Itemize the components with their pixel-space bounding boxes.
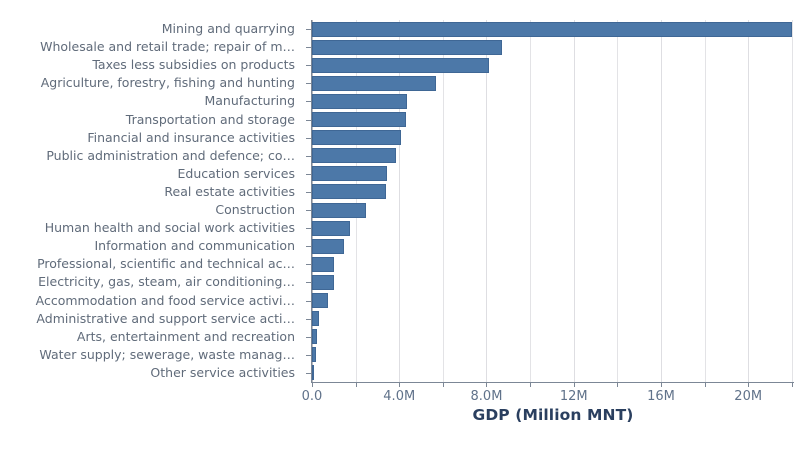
x-axis-tickmark (486, 382, 487, 387)
y-axis-label: Other service activities (150, 366, 295, 380)
bar[interactable] (312, 239, 344, 254)
y-axis-label: Water supply; sewerage, waste manag… (39, 348, 295, 362)
y-axis-tickmark (306, 156, 311, 157)
y-axis-label: Electricity, gas, steam, air conditionin… (38, 275, 295, 289)
bar-row[interactable] (312, 58, 489, 73)
bar[interactable] (312, 329, 317, 344)
x-axis-tickmark (574, 382, 575, 387)
bar[interactable] (312, 166, 387, 181)
y-axis-tickmark (306, 246, 311, 247)
y-axis-line (311, 20, 312, 383)
y-axis-label: Real estate activities (164, 185, 295, 199)
bar[interactable] (312, 94, 407, 109)
y-axis-label: Administrative and support service acti… (36, 312, 295, 326)
y-axis-label: Wholesale and retail trade; repair of m… (40, 40, 295, 54)
bar[interactable] (312, 347, 316, 362)
bar[interactable] (312, 22, 792, 37)
x-axis-tickmark (399, 382, 400, 387)
bars-layer (312, 20, 794, 382)
x-axis-tickmark-minor (617, 382, 618, 387)
y-axis-label: Arts, entertainment and recreation (77, 330, 295, 344)
bar-row[interactable] (312, 148, 396, 163)
y-axis-label: Information and communication (95, 239, 296, 253)
bar-row[interactable] (312, 275, 334, 290)
y-axis-labels: Mining and quarryingWholesale and retail… (0, 20, 305, 382)
y-axis-tickmark (306, 83, 311, 84)
bar[interactable] (312, 221, 350, 236)
x-axis-tickmark-minor (792, 382, 793, 387)
y-axis-tickmark (306, 264, 311, 265)
x-axis-tickmark-minor (530, 382, 531, 387)
bar-row[interactable] (312, 40, 502, 55)
bar-row[interactable] (312, 221, 350, 236)
bar-row[interactable] (312, 239, 344, 254)
bar-row[interactable] (312, 311, 319, 326)
gdp-bar-chart: Mining and quarryingWholesale and retail… (0, 0, 800, 450)
x-axis-label: 8.0M (471, 389, 503, 404)
bar[interactable] (312, 311, 319, 326)
x-axis-label: 16M (647, 389, 675, 404)
x-axis-tickmark (748, 382, 749, 387)
x-axis-tickmark-minor (705, 382, 706, 387)
bar-row[interactable] (312, 184, 386, 199)
x-axis-tickmark-minor (443, 382, 444, 387)
y-axis-label: Financial and insurance activities (87, 131, 295, 145)
bar[interactable] (312, 112, 406, 127)
y-axis-tickmark (306, 138, 311, 139)
bar[interactable] (312, 293, 328, 308)
y-axis-tickmark (306, 210, 311, 211)
x-axis-label: 0.0 (302, 389, 323, 404)
x-axis-tickmark-minor (356, 382, 357, 387)
y-axis-tickmark (306, 47, 311, 48)
y-axis-tickmark (306, 192, 311, 193)
x-axis-label: 20M (734, 389, 762, 404)
y-axis-tickmark (306, 282, 311, 283)
y-axis-label: Agriculture, forestry, fishing and hunti… (41, 76, 295, 90)
y-axis-tickmark (306, 101, 311, 102)
y-axis-tickmark (306, 29, 311, 30)
bar-row[interactable] (312, 94, 407, 109)
y-axis-tickmark (306, 355, 311, 356)
bar[interactable] (312, 130, 401, 145)
bar[interactable] (312, 184, 386, 199)
y-axis-tickmark (306, 301, 311, 302)
y-axis-tickmark (306, 120, 311, 121)
y-axis-label: Accommodation and food service activi… (36, 294, 295, 308)
bar-row[interactable] (312, 76, 436, 91)
y-axis-label: Human health and social work activities (45, 221, 295, 235)
y-axis-tickmark (306, 319, 311, 320)
y-axis-label: Professional, scientific and technical a… (37, 257, 295, 271)
bar-row[interactable] (312, 22, 792, 37)
bar[interactable] (312, 257, 334, 272)
y-axis-label: Transportation and storage (126, 113, 295, 127)
y-axis-label: Education services (178, 167, 296, 181)
bar-row[interactable] (312, 112, 406, 127)
bar[interactable] (312, 148, 396, 163)
bar-row[interactable] (312, 347, 316, 362)
y-axis-tickmark (306, 373, 311, 374)
y-axis-tickmark (306, 65, 311, 66)
bar[interactable] (312, 275, 334, 290)
plot-area (312, 20, 794, 382)
bar-row[interactable] (312, 203, 366, 218)
y-axis-label: Construction (215, 203, 295, 217)
x-axis-label: 12M (560, 389, 588, 404)
y-axis-tickmark (306, 337, 311, 338)
bar-row[interactable] (312, 293, 328, 308)
x-axis-label: 4.0M (383, 389, 415, 404)
bar[interactable] (312, 203, 366, 218)
y-axis-label: Manufacturing (204, 94, 295, 108)
y-axis-label: Mining and quarrying (162, 22, 295, 36)
bar-row[interactable] (312, 166, 387, 181)
y-axis-tickmark (306, 228, 311, 229)
y-axis-label: Taxes less subsidies on products (92, 58, 295, 72)
bar-row[interactable] (312, 365, 314, 380)
bar[interactable] (312, 76, 436, 91)
x-axis-line (312, 382, 794, 383)
x-axis-title: GDP (Million MNT) (312, 406, 794, 424)
bar[interactable] (312, 365, 314, 380)
bar-row[interactable] (312, 329, 317, 344)
bar-row[interactable] (312, 130, 401, 145)
x-axis-tickmark (661, 382, 662, 387)
bar[interactable] (312, 58, 489, 73)
y-axis-label: Public administration and defence; co… (46, 149, 295, 163)
y-axis-tickmark (306, 174, 311, 175)
x-axis-tickmark (312, 382, 313, 387)
bar[interactable] (312, 40, 502, 55)
bar-row[interactable] (312, 257, 334, 272)
